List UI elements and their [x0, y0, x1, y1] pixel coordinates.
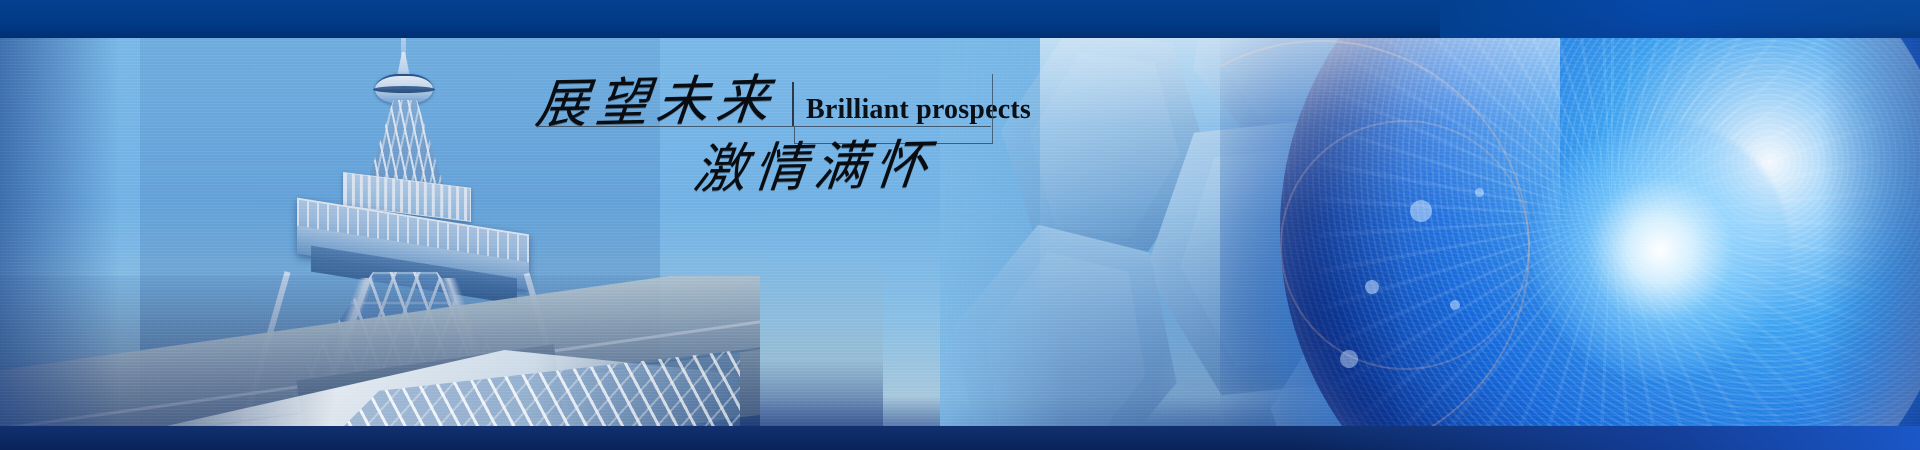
- lens-flare-dot: [1450, 300, 1460, 310]
- lens-flare-ring: [1280, 120, 1530, 370]
- slogan-english: Brilliant prospects: [806, 96, 1031, 124]
- lens-flare-dot: [1365, 280, 1379, 294]
- lens-flare-dot: [1410, 200, 1432, 222]
- slogan-chinese-line-2: 激情满怀: [691, 139, 937, 197]
- slogan-vertical-separator: [792, 82, 794, 126]
- bottom-bar-right-glow: [1300, 426, 1920, 450]
- corporate-banner: 展望未来 Brilliant prospects 激情满怀: [0, 0, 1920, 450]
- slogan-block: 展望未来 Brilliant prospects 激情满怀: [536, 58, 1136, 248]
- rule-vertical-right: [992, 74, 993, 144]
- slogan-chinese-line-1: 展望未来: [533, 74, 779, 132]
- slogan-line-1: 展望未来 Brilliant prospects: [536, 58, 1136, 130]
- lens-flare-dot: [1475, 188, 1484, 197]
- top-bar-right-glow: [1440, 0, 1920, 38]
- lens-flare-dot: [1340, 350, 1358, 368]
- lens-flare-core: [1530, 120, 1790, 380]
- globe-image: [1220, 0, 1920, 450]
- rule-horizontal-upper: [536, 126, 991, 127]
